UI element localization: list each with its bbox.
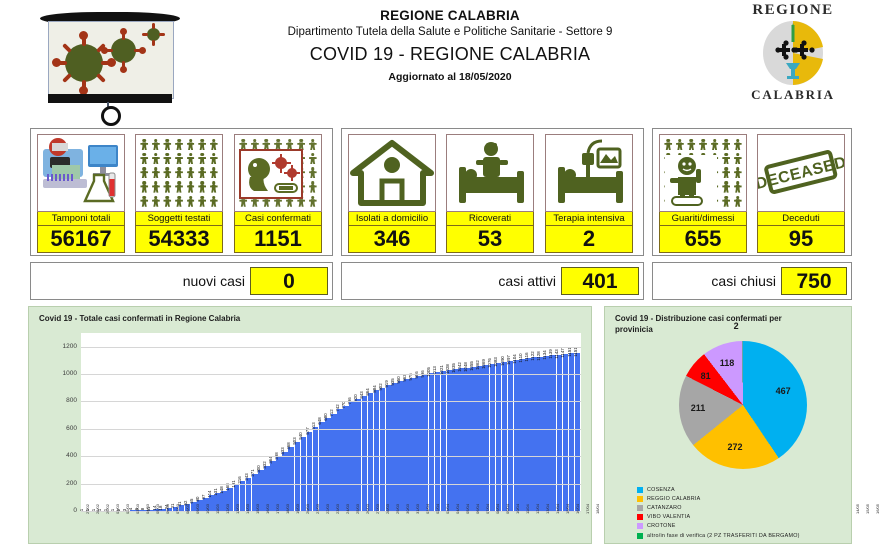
logo-bottom-text: CALABRIA [718,87,868,103]
legend-item: CROTONE [637,522,849,531]
card-label: Soggetti testati [135,212,223,226]
legend-item: COSENZA [637,485,849,494]
bar-value-label: 503 [292,437,297,444]
bar: 680 [325,418,331,511]
y-axis-tick: 1000 [63,370,77,377]
bar: 1128 [538,357,544,511]
bar: 1122 [532,357,538,511]
pie-slice-label: 2 [734,321,739,331]
bar: 864 [368,393,374,511]
legend-swatch [637,496,643,502]
bar-value-label: 1090 [500,356,505,366]
bar: 1139 [550,355,556,511]
bar-value-label: 1134 [542,350,547,359]
bar-value-label: 1151 [573,348,578,357]
bar: 503 [295,442,301,511]
bar-value-label: 1005 [426,368,431,378]
bar: 1083 [496,363,502,511]
card-value: 54333 [135,226,223,253]
bar-chart-title: Covid 19 - Totale casi confermati in Reg… [39,313,240,324]
bar-value-label: 300 [256,465,261,472]
bar: 742 [337,409,343,511]
regione-calabria-logo: REGIONE [718,2,868,117]
legend-label: CROTONE [647,523,676,529]
card-guariti-dimessi: Guariti/dimessi 655 [659,134,747,253]
card-label: Ricoverati [446,212,534,226]
card-label: Guariti/dimessi [659,212,747,226]
people-grid-icon [135,134,223,212]
pie-chart-plot: 467272211811182 [631,341,827,479]
bar: 1151 [569,353,575,511]
y-axis-tick: 800 [66,397,77,404]
header-titles: REGIONE CALABRIA Dipartimento Tutela del… [190,8,710,83]
bar: 1110 [520,359,526,511]
card-label: Isolati a domicilio [348,212,436,226]
stat-cards-row: Tamponi totali 56167 Soggetti testati 54… [30,128,852,256]
bar: 1069 [483,365,489,511]
bar: 843 [362,396,368,511]
bar: 770 [343,406,349,511]
hospital-bed-icon [446,134,534,212]
legend-swatch [637,487,643,493]
total-casi-attivi: casi attivi 401 [341,262,644,300]
bar-value-label: 919 [384,381,389,388]
bar: 1143 [557,355,563,512]
bar: 1048 [465,368,471,511]
bar: 963 [404,379,410,511]
bar: 1151 [575,353,581,511]
pie-chart-title: Covid 19 - Distribuzione casi confermati… [615,313,815,335]
legend-label: altro/in fase di verifica (2 PZ TRASFERI… [647,533,800,539]
bar: 433 [282,452,288,511]
bar: 540 [301,437,307,511]
total-label: casi chiusi [711,273,776,289]
card-value: 346 [348,226,436,253]
card-deceduti: DECEASED Deceduti 95 [757,134,845,253]
bar-value-label: 1076 [487,358,492,368]
legend-swatch [637,523,643,529]
total-label: casi attivi [498,273,556,289]
bar: 1097 [508,361,514,511]
house-icon [348,134,436,212]
bar: 1134 [544,356,550,511]
bar-chart-panel: Covid 19 - Totale casi confermati in Reg… [28,306,592,544]
bar: 648 [319,422,325,511]
bar-value-label: 950 [396,376,401,383]
bar: 975 [410,378,416,512]
bar-chart-x-axis: 27/0228/0229/0201/0302/0303/0304/0305/03… [81,513,581,549]
bar-value-label: 1151 [567,348,572,357]
updated-date: Aggiornato al 18/05/2020 [190,71,710,83]
card-value: 95 [757,226,845,253]
bar-value-label: 963 [402,374,407,381]
card-tamponi-totali: Tamponi totali 56167 [37,134,125,253]
bar: 1035 [453,369,459,511]
recovered-person-icon [659,134,747,212]
pie-slice-label: 211 [691,403,706,413]
pie-chart-panel: Covid 19 - Distribuzione casi confermati… [604,306,852,544]
legend-label: VIBO VALENTIA [647,514,690,520]
card-value: 1151 [234,226,322,253]
bar: 950 [398,381,404,511]
pie-slice-label: 272 [727,442,742,452]
bar-value-label: 742 [335,405,340,412]
bar-value-label: 97 [201,494,206,499]
bar-value-label: 1028 [445,364,450,374]
closed-cases-group: Guariti/dimessi 655 DECEASED Deceduti 95 [652,128,852,256]
bar-value-label: 884 [372,385,377,392]
bar-value-label: 648 [317,418,322,425]
bar-value-label: 364 [268,457,273,464]
legend-swatch [637,514,643,520]
bar: 820 [355,399,361,511]
bar-value-label: 1062 [475,360,480,370]
bar-value-label: 271 [250,469,255,476]
bar-value-label: 114 [207,491,212,498]
infected-person-icon [234,134,322,212]
bar-value-label: 1069 [481,359,486,369]
totals-row: nuovi casi 0 casi attivi 401 casi chiusi… [30,262,852,300]
department-line: Dipartimento Tutela della Salute e Polit… [190,26,710,38]
bar: 1021 [441,371,447,511]
legend-swatch [637,505,643,511]
bar-value-label: 864 [365,388,370,395]
bar: 1147 [563,354,569,511]
pie-chart-legend: COSENZAREGGIO CALABRIACATANZAROVIBO VALE… [637,485,849,540]
bar: 1055 [471,367,477,511]
card-value: 56167 [37,226,125,253]
card-value: 2 [545,226,633,253]
card-label: Tamponi totali [37,212,125,226]
bar-value-label: 1122 [530,352,535,361]
bar: 919 [386,385,392,511]
card-value: 53 [446,226,534,253]
dashboard-header: REGIONE CALABRIA Dipartimento Tutela del… [0,0,882,120]
pie-slice-label: 467 [776,386,791,396]
bar-value-label: 902 [378,383,383,390]
card-value: 655 [659,226,747,253]
bar: 1042 [459,368,465,511]
grid-line: 600 [81,429,581,430]
bar-value-label: 243 [244,473,249,480]
grid-line: 1200 [81,347,581,348]
bar: 1013 [435,372,441,511]
total-value: 0 [250,267,328,295]
x-axis-tick: 16/05 [875,504,882,514]
total-value: 750 [781,267,847,295]
bar: 1116 [526,358,532,511]
card-casi-confermati: Casi confermati 1151 [234,134,322,253]
legend-swatch [637,533,643,539]
y-axis-tick: 0 [73,507,77,514]
bar-value-label: 1035 [451,363,456,373]
legend-item: CATANZARO [637,503,849,512]
covid-dashboard: REGIONE CALABRIA Dipartimento Tutela del… [0,0,882,548]
bar: 1062 [477,366,483,511]
bar-value-label: 131 [213,488,218,495]
bar: 1028 [447,370,453,511]
bar-value-label: 148 [219,486,224,493]
bar-value-label: 1116 [524,353,529,362]
pie-slice-label: 118 [720,358,735,368]
grid-line: 1000 [81,374,581,375]
y-axis-tick: 400 [66,452,77,459]
virus-projector-screen-icon [34,6,186,118]
bar-value-label: 712 [329,409,334,416]
bar-value-label: 1104 [512,354,517,363]
bar: 1090 [502,362,508,511]
bar-value-label: 1110 [518,353,523,362]
total-casi-chiusi: casi chiusi 750 [652,262,852,300]
legend-item: altro/in fase di verifica (2 PZ TRASFERI… [637,531,849,540]
bar-value-label: 820 [353,394,358,401]
bar-value-label: 1139 [548,349,553,358]
bar-value-label: 433 [280,447,285,454]
bar-value-label: 1097 [506,355,511,365]
bar: 986 [416,376,422,511]
page-title: COVID 19 - REGIONE CALABRIA [190,44,710,65]
calabria-crest-icon [762,21,824,85]
deceased-stamp-icon: DECEASED [757,134,845,212]
grid-line: 800 [81,401,581,402]
grid-line: 200 [81,484,581,485]
bar-value-label: 1128 [536,351,541,360]
card-terapia-intensiva: Terapia intensiva 2 [545,134,633,253]
card-label: Terapia intensiva [545,212,633,226]
bar-value-label: 935 [390,378,395,385]
bar-value-label: 332 [262,461,267,468]
bar: 884 [374,390,380,511]
legend-item: VIBO VALENTIA [637,513,849,522]
bar-value-label: 1147 [560,348,565,357]
bar-value-label: 843 [359,391,364,398]
logo-top-text: REGIONE [718,2,868,19]
bar: 1076 [490,364,496,511]
active-cases-group: Isolati a domicilio 346 [341,128,644,256]
legend-label: COSENZA [647,487,675,493]
bar-value-label: 1055 [469,361,474,371]
bar: 577 [307,432,313,511]
bar-chart-plot: 1111112346811141824314152658097114131148… [81,333,581,511]
bar-value-label: 80 [195,497,200,502]
card-isolati-a-domicilio: Isolati a domicilio 346 [348,134,436,253]
bar-value-label: 1083 [493,357,498,367]
y-axis-tick: 200 [66,480,77,487]
bar-value-label: 1143 [554,349,559,358]
card-soggetti-testati: Soggetti testati 54333 [135,134,223,253]
region-line: REGIONE CALABRIA [190,8,710,23]
legend-item: REGGIO CALABRIA [637,494,849,503]
card-label: Casi confermati [234,212,322,226]
card-ricoverati: Ricoverati 53 [446,134,534,253]
intensive-care-bed-icon [545,134,633,212]
testing-group: Tamponi totali 56167 Soggetti testati 54… [30,128,333,256]
bar: 1104 [514,360,520,511]
total-nuovi-casi: nuovi casi 0 [30,262,333,300]
bar-value-label: 65 [189,499,194,504]
bar-value-label: 680 [323,413,328,420]
lab-analyzer-icon [37,134,125,212]
y-axis-tick: 600 [66,425,77,432]
grid-line: 400 [81,456,581,457]
bar: 1005 [429,373,435,511]
legend-label: CATANZARO [647,505,682,511]
card-label: Deceduti [757,212,845,226]
total-label: nuovi casi [183,273,245,289]
bar: 996 [422,375,428,511]
bar-value-label: 1042 [457,362,462,372]
bar: 613 [313,427,319,511]
bar-value-label: 1048 [463,362,468,372]
bar-value-label: 540 [298,432,303,439]
total-value: 401 [561,267,639,295]
y-axis-tick: 1200 [63,343,77,350]
bar: 902 [380,388,386,512]
legend-label: REGGIO CALABRIA [647,496,700,502]
pie-slice-label: 81 [701,371,711,381]
bar-value-label: 468 [286,442,291,449]
